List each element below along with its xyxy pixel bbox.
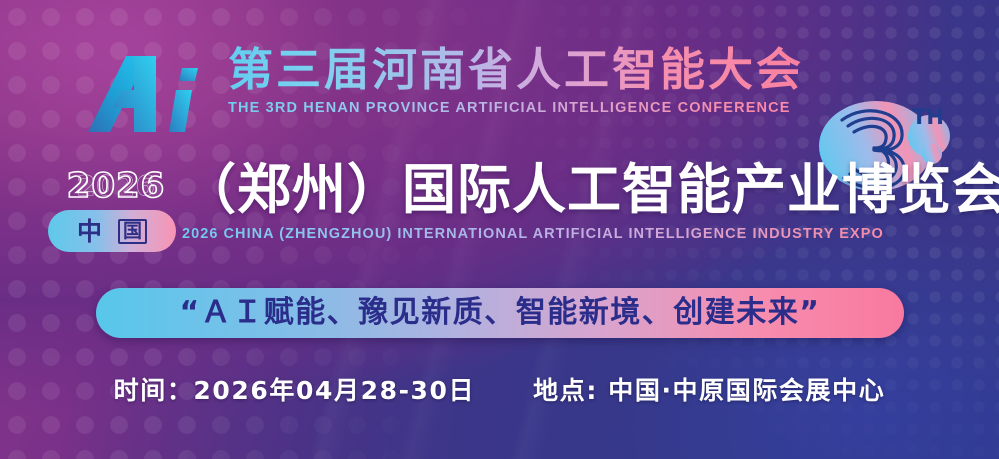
year-label: 2026 — [56, 164, 176, 208]
slogan-pill: “ＡＩ赋能、豫见新质、智能新境、创建未来” — [96, 288, 904, 338]
conference-title-cn: 第三届河南省人工智能大会 — [228, 46, 818, 95]
country-char-right: 国 — [118, 219, 147, 244]
slogan-text: “ＡＩ赋能、豫见新质、智能新境、创建未来” — [180, 298, 821, 328]
event-info-row: 时间：2026年04月28-30日 地点: 中国·中原国际会展中心 — [0, 366, 999, 412]
header-text-block: 第三届河南省人工智能大会 THE 3RD HENAN PROVINCE ARTI… — [228, 46, 818, 116]
main-row: 2026 2026 中 国 （郑州）国际人工智能产业博览会 2026 CHINA… — [0, 160, 999, 268]
event-date: 时间：2026年04月28-30日 — [114, 371, 476, 407]
country-pill: 中 国 — [48, 210, 176, 252]
ai-logo-icon — [66, 46, 216, 146]
header-row: 第三届河南省人工智能大会 THE 3RD HENAN PROVINCE ARTI… — [0, 42, 999, 150]
ai-logo — [66, 46, 216, 146]
country-char-left: 中 — [77, 219, 102, 244]
expo-title-cn: （郑州）国际人工智能产业博览会 — [182, 160, 982, 220]
event-venue: 地点: 中国·中原国际会展中心 — [533, 371, 885, 407]
main-title-block: （郑州）国际人工智能产业博览会 2026 CHINA (ZHENGZHOU) I… — [182, 160, 982, 242]
conference-title-en: THE 3RD HENAN PROVINCE ARTIFICIAL INTELL… — [228, 100, 818, 116]
edition-badge-suffix: TH — [912, 105, 944, 129]
year-country-badge: 2026 2026 中 国 — [48, 164, 176, 256]
conference-banner: 第三届河南省人工智能大会 THE 3RD HENAN PROVINCE ARTI… — [0, 0, 999, 459]
expo-title-en: 2026 CHINA (ZHENGZHOU) INTERNATIONAL ART… — [182, 226, 982, 242]
